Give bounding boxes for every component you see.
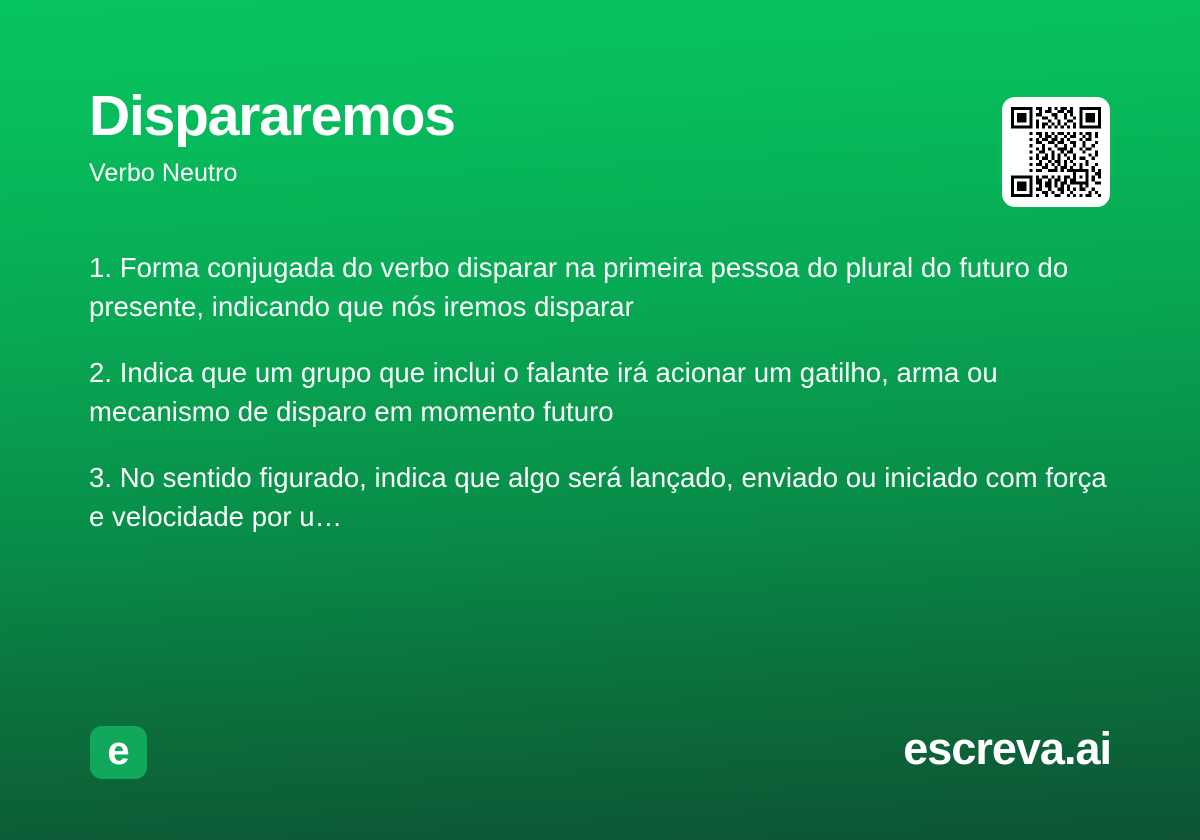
page-title: Dispararemos — [89, 88, 949, 145]
definition-item: 3. No sentido figurado, indica que algo … — [89, 458, 1109, 536]
card-header: Dispararemos Verbo Neutro — [89, 88, 949, 188]
word-class-label: Verbo Neutro — [89, 159, 949, 188]
qr-code-card[interactable] — [1002, 97, 1110, 207]
definitions-list: 1. Forma conjugada do verbo disparar na … — [89, 248, 1109, 536]
letter-e-icon: e — [107, 731, 129, 771]
qr-code-icon — [1011, 106, 1101, 198]
definition-card: Dispararemos Verbo Neutro — [0, 0, 1200, 840]
brand-wordmark: escreva.ai — [903, 722, 1111, 776]
definition-item: 1. Forma conjugada do verbo disparar na … — [89, 248, 1109, 326]
escreva-logo-badge[interactable]: e — [90, 726, 147, 779]
definition-item: 2. Indica que um grupo que inclui o fala… — [89, 353, 1109, 431]
